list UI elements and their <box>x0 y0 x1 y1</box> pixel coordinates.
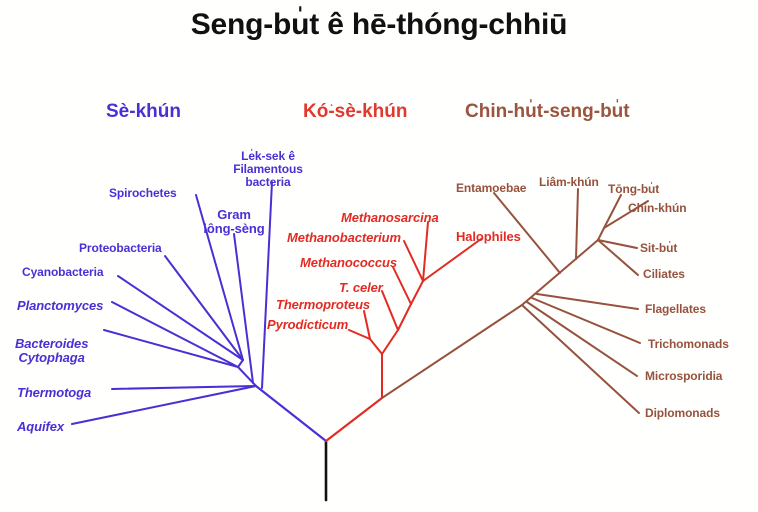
branch-br-thermotoga <box>112 386 256 389</box>
branch-br-liam-khun <box>576 189 578 259</box>
branch-br-cyanobacteria <box>118 276 243 360</box>
taxon-label-liam-khun: Liâm-khún <box>539 176 599 189</box>
taxon-label-thermoproteus: Thermoproteus <box>276 298 370 312</box>
taxon-label-methanococcus: Methanococcus <box>300 256 397 270</box>
branch-inner-to-upper <box>238 360 243 367</box>
taxon-label-microsporidia: Microsporidia <box>645 370 722 383</box>
branch-arch-top-node <box>411 281 423 304</box>
taxon-label-halophiles: Halophiles <box>456 230 521 244</box>
taxon-label-proteobacteria: Proteobacteria <box>79 242 162 255</box>
branch-arch-node-right <box>382 330 398 354</box>
branch-br-methanobacterium <box>404 241 423 281</box>
taxon-label-spirochetes: Spirochetes <box>109 187 177 200</box>
taxon-label-methanosarcina: Methanosarcina <box>341 211 439 225</box>
branch-br-diplomonads <box>522 305 639 413</box>
taxon-label-t-celer: T. celer <box>339 281 383 295</box>
branch-br-microsporidia <box>527 302 637 376</box>
taxon-label-diplomonads: Diplomonads <box>645 407 720 420</box>
branch-br-bacteroides <box>104 330 238 367</box>
phylogenetic-tree-figure: Seng-bu̍t ê hē-thóng-chhiū Sè-khún Kó͘-s… <box>0 0 758 512</box>
taxon-label-methanobacterium: Methanobacterium <box>287 231 401 245</box>
taxon-label-pyrodicticum: Pyrodicticum <box>267 318 348 332</box>
taxon-label-sit-but: Sit-bu̍t <box>640 242 677 255</box>
taxon-label-bacteroides-cytophaga: Bacteroides Cytophaga <box>15 337 88 365</box>
taxon-label-green-filamentous: Le̍k-sek ê Filamentous bacteria <box>233 150 303 189</box>
branch-br-ciliates <box>598 240 638 275</box>
taxon-label-ciliates: Ciliates <box>643 268 685 281</box>
branch-br-aquifex <box>72 386 256 424</box>
taxon-label-entamoebae: Entamoebae <box>456 182 526 195</box>
taxon-label-gram-positive: Gram iông-sèng <box>203 208 264 236</box>
branch-br-proteobacteria <box>165 256 243 360</box>
branch-root-to-archaea <box>326 398 382 441</box>
branch-br-trichomonads <box>532 298 640 343</box>
taxon-label-trichomonads: Trichomonads <box>648 338 729 351</box>
branch-euk-crown-node <box>598 228 604 240</box>
taxon-label-chin-khun: Chin-khún <box>628 202 686 215</box>
branch-root-to-bacteria-hub <box>256 386 326 441</box>
branch-arch-node-left <box>370 339 382 354</box>
taxon-label-planctomyces: Planctomyces <box>17 299 103 313</box>
branch-br-planctomyces <box>112 302 238 367</box>
branch-br-thermoproteus <box>364 311 370 339</box>
taxon-label-flagellates: Flagellates <box>645 303 706 316</box>
taxon-label-thermotoga: Thermotoga <box>17 386 91 400</box>
branch-br-methanococcus <box>393 267 411 304</box>
branch-br-t-celer <box>382 291 398 330</box>
branch-arch-upper-node <box>398 304 411 330</box>
taxon-label-tong-but: Tōng-bu̍t <box>608 183 659 196</box>
branch-br-halophiles <box>423 239 481 281</box>
taxon-label-aquifex: Aquifex <box>17 420 64 434</box>
taxon-label-cyanobacteria: Cyanobacteria <box>22 266 103 279</box>
branch-br-pyrodicticum <box>349 330 370 339</box>
branch-br-methanosarcina <box>423 222 428 281</box>
